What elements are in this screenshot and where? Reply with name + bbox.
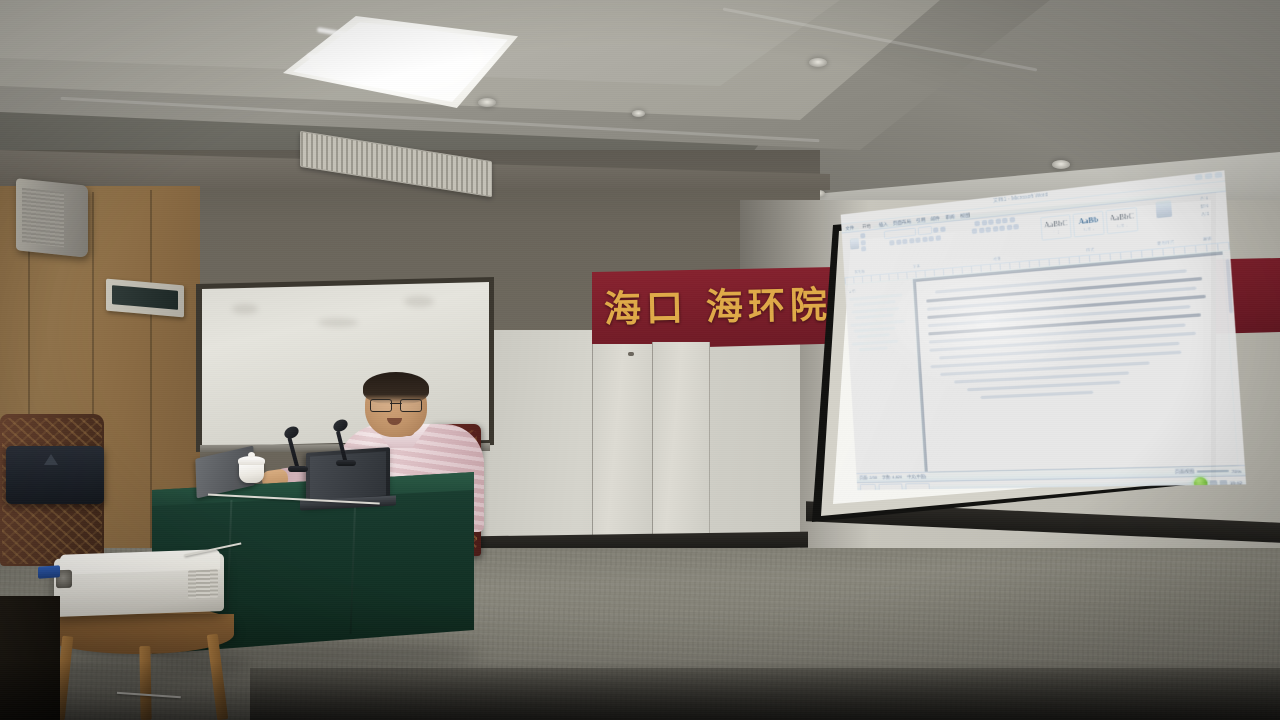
text-highlight-icon[interactable] <box>929 235 934 241</box>
ribbon-group-paragraph[interactable]: 段落 <box>956 213 1037 267</box>
whiteboard-smudge <box>404 296 434 307</box>
downlight-icon <box>809 58 827 67</box>
style-preview: AaBb <box>1078 216 1098 227</box>
document-text-line <box>967 380 1120 391</box>
decrease-indent-icon[interactable] <box>995 218 1001 224</box>
status-language[interactable]: 中文(中国) <box>907 474 926 481</box>
group-label-editing: 编辑 <box>1202 236 1211 244</box>
tab-file[interactable]: 文件 <box>845 224 854 232</box>
align-center-icon[interactable] <box>978 227 984 233</box>
shrink-font-icon[interactable] <box>940 226 945 232</box>
font-color-icon[interactable] <box>935 235 940 241</box>
minimize-icon[interactable] <box>1195 174 1203 180</box>
maximize-icon[interactable] <box>1205 173 1213 179</box>
downlight-icon <box>478 98 496 107</box>
superscript-icon[interactable] <box>922 236 927 242</box>
multilevel-list-icon[interactable] <box>988 219 994 225</box>
underline-icon[interactable] <box>902 238 907 244</box>
status-view-mode[interactable]: 页面视图 <box>1175 468 1195 475</box>
align-left-icon[interactable] <box>972 228 978 234</box>
document-page[interactable] <box>916 255 1239 472</box>
foreground-dark-edge <box>0 596 60 720</box>
strikethrough-icon[interactable] <box>909 237 914 243</box>
find-label[interactable]: 查找 <box>1200 196 1209 203</box>
taskbar-item-explorer[interactable] <box>905 482 930 490</box>
downlight-icon <box>632 110 645 117</box>
nav-item[interactable] <box>857 333 891 338</box>
glasses-lens-right <box>400 399 422 412</box>
group-label-paragraph: 段落 <box>993 256 1001 263</box>
tab-review[interactable]: 审阅 <box>945 213 955 221</box>
align-right-icon[interactable] <box>985 226 991 232</box>
style-preview: AaBbC <box>1044 219 1068 230</box>
panel-knob-icon <box>628 352 634 356</box>
style-name: 标题 1 <box>1083 226 1094 233</box>
taskbar-item-word[interactable] <box>878 483 902 490</box>
shading-icon[interactable] <box>1006 224 1012 230</box>
projector-cable-plug <box>38 565 60 579</box>
power-cable <box>115 692 181 720</box>
style-preview: AaBbC <box>1109 212 1134 223</box>
nav-item[interactable] <box>855 314 894 320</box>
change-styles-icon[interactable] <box>1155 200 1172 218</box>
status-page: 页面: 2/30 <box>859 475 877 481</box>
microphone-base <box>288 466 308 472</box>
ribbon-group-font[interactable]: 字体 <box>874 221 959 274</box>
style-normal[interactable]: AaBbC 正文 <box>1040 214 1072 241</box>
grow-font-icon[interactable] <box>933 227 938 233</box>
zoom-slider[interactable] <box>1197 470 1229 473</box>
document-text-line <box>980 390 1093 399</box>
whiteboard-smudge <box>318 318 358 327</box>
ribbon-group-clipboard[interactable]: 剪贴板 <box>842 230 877 277</box>
nav-item[interactable] <box>851 307 900 314</box>
bold-icon[interactable] <box>890 240 895 246</box>
italic-icon[interactable] <box>896 239 901 245</box>
tab-mailings[interactable]: 邮件 <box>930 215 940 223</box>
nav-item[interactable] <box>851 339 899 345</box>
close-icon[interactable] <box>1215 172 1223 178</box>
justify-icon[interactable] <box>992 226 998 232</box>
glasses-lens-left <box>370 399 392 412</box>
numbering-icon[interactable] <box>981 220 987 226</box>
tab-view[interactable]: 视图 <box>960 211 970 219</box>
ribbon-group-change-styles[interactable]: 更改样式 <box>1144 196 1187 249</box>
change-styles-label: 更改样式 <box>1157 240 1175 248</box>
word-document-area[interactable]: 导航 <box>845 251 1245 473</box>
style-name: 正文 <box>1052 229 1060 235</box>
wood-panel-seam <box>150 190 152 576</box>
replace-label[interactable]: 替换 <box>1200 204 1209 211</box>
start-button[interactable] <box>860 483 876 490</box>
window-controls[interactable] <box>1195 172 1222 181</box>
navigation-pane[interactable]: 导航 <box>845 279 925 473</box>
whiteboard-smudge <box>232 304 258 314</box>
subscript-icon[interactable] <box>915 237 920 243</box>
nav-item[interactable] <box>854 326 897 332</box>
presenter-laptop-bezel <box>310 451 386 500</box>
borders-icon[interactable] <box>1013 223 1019 229</box>
foreground-floor-shadow <box>250 668 1280 720</box>
laptop-bag <box>6 446 104 504</box>
zoom-level: 75% <box>1231 468 1241 474</box>
ribbon-group-editing[interactable]: 查找 替换 选择 编辑 <box>1183 192 1229 246</box>
zoom-control[interactable]: 页面视图 75% <box>1175 467 1242 475</box>
font-size-combo[interactable] <box>917 226 932 236</box>
select-label[interactable]: 选择 <box>1201 212 1210 219</box>
increase-indent-icon[interactable] <box>1002 218 1008 224</box>
format-painter-icon[interactable] <box>861 246 866 252</box>
projected-word-window[interactable]: 文档1 - Microsoft Word 文件 开始 插入 页面布局 引用 邮件… <box>841 170 1246 490</box>
tab-insert[interactable]: 插入 <box>879 220 889 228</box>
group-label-font: 字体 <box>913 264 921 271</box>
wall-panel-left[interactable] <box>592 344 654 540</box>
style-name: 标题 2 <box>1116 222 1128 229</box>
wall-panel-right[interactable] <box>652 342 710 540</box>
downlight-icon <box>1052 160 1070 169</box>
line-spacing-icon[interactable] <box>999 225 1005 231</box>
group-label-styles: 样式 <box>1086 248 1095 255</box>
glasses-icon <box>370 399 422 410</box>
nav-item[interactable] <box>850 319 905 326</box>
style-heading-2[interactable]: AaBbC 标题 2 <box>1106 207 1139 234</box>
tea-cup-knob <box>248 452 255 458</box>
microphone-base <box>336 460 356 466</box>
style-heading-1[interactable]: AaBb 标题 1 <box>1073 211 1105 238</box>
paste-icon[interactable] <box>850 237 859 249</box>
conference-room-photo: 海口 海环院环 境 文档1 - Microsoft Word 文件 开始 插入 … <box>0 0 1280 720</box>
copy-icon[interactable] <box>860 240 865 246</box>
nav-item[interactable] <box>859 347 888 352</box>
tab-references[interactable]: 引用 <box>916 216 926 224</box>
nav-item[interactable] <box>853 300 897 307</box>
sort-icon[interactable] <box>1009 217 1015 223</box>
bullets-icon[interactable] <box>975 221 981 227</box>
group-label-clipboard: 剪贴板 <box>854 269 865 276</box>
status-words: 字数: 4,820 <box>882 474 902 480</box>
speaker-grille <box>22 188 64 247</box>
cut-icon[interactable] <box>860 233 865 239</box>
